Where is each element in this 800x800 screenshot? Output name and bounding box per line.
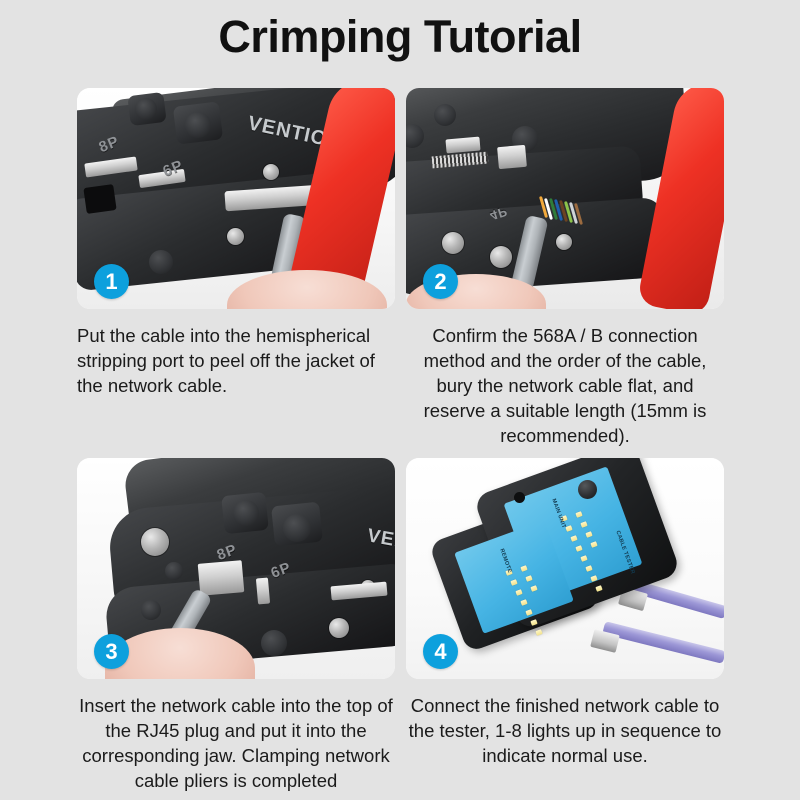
step-2-caption: Confirm the 568A / B connection method a… [406,323,724,448]
step-3-photo: 8P 6P VENT 3 [77,458,395,679]
step-badge-1: 1 [94,264,129,299]
screw-top [263,164,279,180]
screw-bottom [227,228,244,245]
tool-pivot-a [434,104,456,126]
step-card-1: 8P 6P VENTION 1 Put the cable into the h… [77,88,395,398]
tester-jack [514,492,525,503]
step-4-photo: CABLE TESTER MAIN UNIT REMOTE 4 [406,458,724,679]
step-card-3: 8P 6P VENT 3 Insert the network cable in… [77,458,395,793]
tutorial-page: Crimping Tutorial [0,0,800,800]
tool-pivot-b [185,112,211,138]
tool-pivot-e [261,630,287,656]
step-badge-2: 2 [423,264,458,299]
tool-pivot-a [135,98,157,120]
step-badge-3: 3 [94,634,129,669]
tester-power-switch [578,480,597,499]
step-badge-4: 4 [423,634,458,669]
tool-pivot-c [149,250,173,274]
die-insert-a [445,137,480,154]
step-4-caption: Connect the finished network cable to th… [406,693,724,768]
page-title: Crimping Tutorial [0,8,800,66]
screw-right [556,234,572,250]
tool-pivot-b [283,514,311,542]
screw-mid [490,246,512,268]
step-2-photo: 4P 2 [406,88,724,309]
screw-left [141,528,169,556]
tool-pivot-c [165,562,183,580]
die-insert-b [497,145,527,169]
screw-left [442,232,464,254]
jaw-8p [198,560,245,596]
stripping-port [83,184,116,214]
steps-grid: 8P 6P VENTION 1 Put the cable into the h… [0,88,800,800]
step-card-2: 4P 2 [406,88,724,448]
step-card-4: CABLE TESTER MAIN UNIT REMOTE 4 Connect … [406,458,724,768]
jaw-6p [256,578,270,605]
tool-pivot-a [233,500,259,526]
screw-right [329,618,349,638]
step-1-photo: 8P 6P VENTION 1 [77,88,395,309]
step-1-caption: Put the cable into the hemispherical str… [77,323,395,398]
tool-pivot-d [141,600,161,620]
step-3-caption: Insert the network cable into the top of… [77,693,395,793]
